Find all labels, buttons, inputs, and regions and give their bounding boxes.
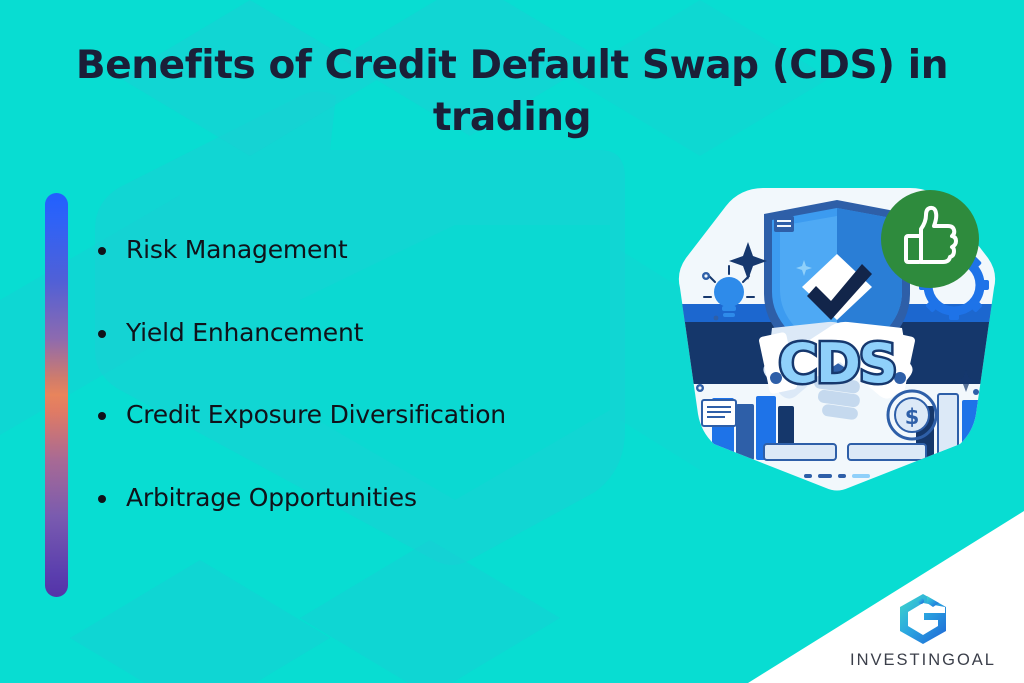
brand-logo[interactable]: INVESTINGOAL [838,592,1008,674]
list-item: Credit Exposure Diversification [92,401,652,429]
dollar-coin-icon: $ [888,391,936,439]
infographic-canvas: Benefits of Credit Default Swap (CDS) in… [0,0,1024,683]
thumbs-up-badge [881,190,979,288]
list-item-label: Credit Exposure Diversification [126,400,506,429]
thumbs-up-badge-svg [881,190,979,288]
document-icon [774,216,794,232]
page-title: Benefits of Credit Default Swap (CDS) in… [42,40,982,144]
accent-gradient-bar [45,193,68,597]
benefits-list: Risk Management Yield Enhancement Credit… [92,236,652,511]
bullet-dot-icon [98,247,106,255]
cds-wordmark: CDS [778,332,895,395]
list-item-label: Yield Enhancement [126,318,363,347]
bullet-dot-icon [98,495,106,503]
bullet-dot-icon [98,412,106,420]
list-item: Risk Management [92,236,652,264]
brand-name: INVESTINGOAL [838,651,1008,670]
list-item: Yield Enhancement [92,319,652,347]
list-item-label: Risk Management [126,235,347,264]
badge-circle [881,190,979,288]
coin-dollar-label: $ [905,405,920,429]
list-item: Arbitrage Opportunities [92,484,652,512]
list-item-label: Arbitrage Opportunities [126,483,417,512]
bullet-dot-icon [98,330,106,338]
investingoal-hexagon-g-logo-icon [894,592,952,646]
